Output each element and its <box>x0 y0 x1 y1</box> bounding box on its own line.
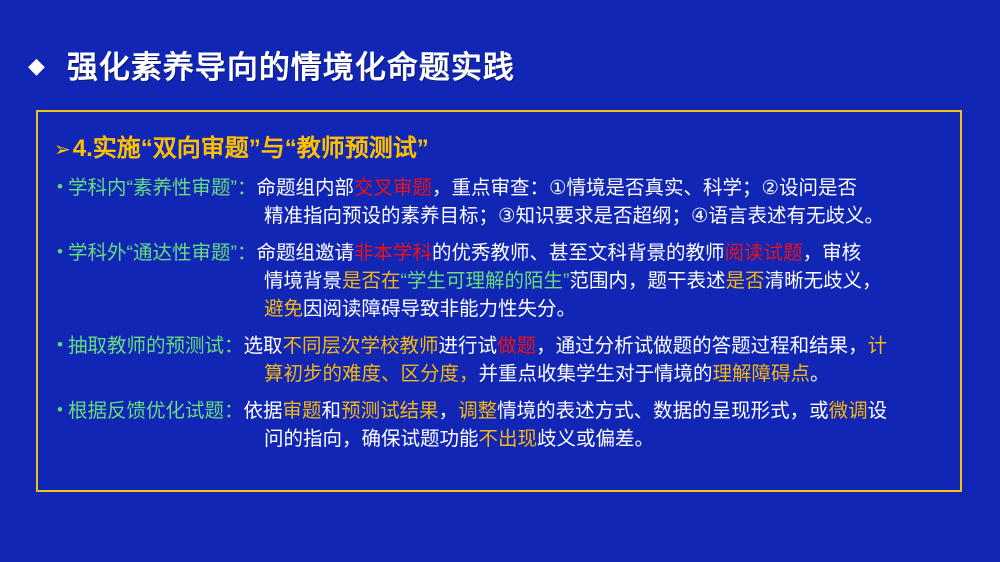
list-item-continuation: 精准指向预设的素养目标；③知识要求是否超纲；④语言表述有无歧义。 <box>68 202 950 230</box>
text-run: 和 <box>322 400 342 422</box>
list-item: • 学科外“通达性审题”：命题组邀请非本学科的优秀教师、甚至文科背景的教师阅读试… <box>52 239 950 323</box>
text-run: 因阅读障碍导致非能力性失分。 <box>303 298 576 320</box>
text-run: 精准指向预设的素养目标；③知识要求是否超纲；④语言表述有无歧义。 <box>264 205 884 227</box>
text-run-highlight: 阅读试题 <box>725 242 803 264</box>
text-run: 歧义或偏差。 <box>537 428 654 450</box>
text-run: 问的指向，确保试题功能 <box>264 428 479 450</box>
text-run: 情境背景 <box>264 270 342 292</box>
diamond-bullet-icon: ◆ <box>28 55 45 77</box>
text-run-highlight: 微调 <box>829 400 868 422</box>
text-run: 清晰无歧义， <box>765 270 882 292</box>
text-run-highlight: 理解障碍点 <box>713 363 811 385</box>
list-item-body: 抽取教师的预测试：选取不同层次学校教师进行试做题，通过分析试做题的答题过程和结果… <box>68 332 950 388</box>
text-run: 命题组邀请 <box>257 242 355 264</box>
bullet-dot-icon: • <box>52 332 68 358</box>
list-item-body: 学科外“通达性审题”：命题组邀请非本学科的优秀教师、甚至文科背景的教师阅读试题，… <box>68 239 950 323</box>
list-item-continuation: 问的指向，确保试题功能不出现歧义或偏差。 <box>68 425 950 453</box>
text-run: 选取 <box>244 335 283 357</box>
arrow-right-icon: ➢ <box>54 137 71 162</box>
section-subtitle: ➢ 4.实施“双向审题”与“教师预测试” <box>54 128 429 163</box>
text-run-highlight: 避免 <box>264 298 303 320</box>
list-item-body: 根据反馈优化试题：依据审题和预测试结果，调整情境的表述方式、数据的呈现形式，或微… <box>68 397 950 453</box>
content-frame: ➢ 4.实施“双向审题”与“教师预测试” • 学科内“素养性审题”：命题组内部交… <box>36 110 962 492</box>
text-run: ，审核 <box>803 242 862 264</box>
bullet-dot-icon: • <box>52 397 68 423</box>
text-run-highlight: 非本学科 <box>354 242 432 264</box>
text-run: ，重点审查：①情境是否真实、科学；②设问是否 <box>432 177 857 199</box>
slide-root: ◆ 强化素养导向的情境化命题实践 ➢ 4.实施“双向审题”与“教师预测试” • … <box>0 0 1000 562</box>
page-title: ◆ 强化素养导向的情境化命题实践 <box>28 42 515 87</box>
list-item-lead: 根据反馈优化试题： <box>68 400 244 422</box>
list-item-continuation: 情境背景是否在“学生可理解的陌生”范围内，题干表述是否清晰无歧义， <box>68 267 950 295</box>
text-run: 并重点收集学生对于情境的 <box>479 363 713 385</box>
text-run-highlight: 计 <box>868 335 888 357</box>
text-run-highlight: “学生可理解的陌生” <box>401 270 570 292</box>
text-run: ，通过分析试做题的答题过程和结果， <box>536 335 868 357</box>
text-run-highlight: 不出现 <box>479 428 538 450</box>
list-item: • 根据反馈优化试题：依据审题和预测试结果，调整情境的表述方式、数据的呈现形式，… <box>52 397 950 453</box>
text-run-highlight: 预测试结果 <box>341 400 439 422</box>
list-item-lead: 抽取教师的预测试： <box>68 335 244 357</box>
list-item-continuation: 避免因阅读障碍导致非能力性失分。 <box>68 295 950 323</box>
text-run-highlight: 审题 <box>283 400 322 422</box>
text-run: 范围内，题干表述 <box>570 270 726 292</box>
text-run-highlight: 做题 <box>497 335 536 357</box>
section-subtitle-text: 4.实施“双向审题”与“教师预测试” <box>73 128 429 163</box>
list-item-body: 学科内“素养性审题”：命题组内部交叉审题，重点审查：①情境是否真实、科学；②设问… <box>68 174 950 230</box>
text-run: 的优秀教师、甚至文科背景的教师 <box>432 242 725 264</box>
list-item-continuation: 算初步的难度、区分度，并重点收集学生对于情境的理解障碍点。 <box>68 360 950 388</box>
list-item-lead: 学科外“通达性审题”： <box>68 242 257 264</box>
text-run-highlight: 不同层次学校教师 <box>283 335 439 357</box>
list-item: • 学科内“素养性审题”：命题组内部交叉审题，重点审查：①情境是否真实、科学；②… <box>52 174 950 230</box>
text-run: 依据 <box>244 400 283 422</box>
text-run-highlight: 算初步的难度、区分度， <box>264 363 479 385</box>
text-run: 设 <box>868 400 888 422</box>
bullet-dot-icon: • <box>52 239 68 265</box>
list-item: • 抽取教师的预测试：选取不同层次学校教师进行试做题，通过分析试做题的答题过程和… <box>52 332 950 388</box>
text-run-highlight: 调整 <box>458 400 497 422</box>
text-run: 命题组内部 <box>257 177 355 199</box>
text-run: 情境的表述方式、数据的呈现形式，或 <box>497 400 829 422</box>
text-run-highlight: 是否 <box>726 270 765 292</box>
text-run: 。 <box>810 363 830 385</box>
bullet-dot-icon: • <box>52 174 68 200</box>
text-run: ， <box>439 400 459 422</box>
page-title-text: 强化素养导向的情境化命题实践 <box>67 42 515 87</box>
text-run: 进行试 <box>439 335 498 357</box>
bullet-list: • 学科内“素养性审题”：命题组内部交叉审题，重点审查：①情境是否真实、科学；②… <box>52 174 950 462</box>
list-item-lead: 学科内“素养性审题”： <box>68 177 257 199</box>
text-run-highlight: 是否在 <box>342 270 401 292</box>
text-run-highlight: 交叉审题 <box>354 177 432 199</box>
